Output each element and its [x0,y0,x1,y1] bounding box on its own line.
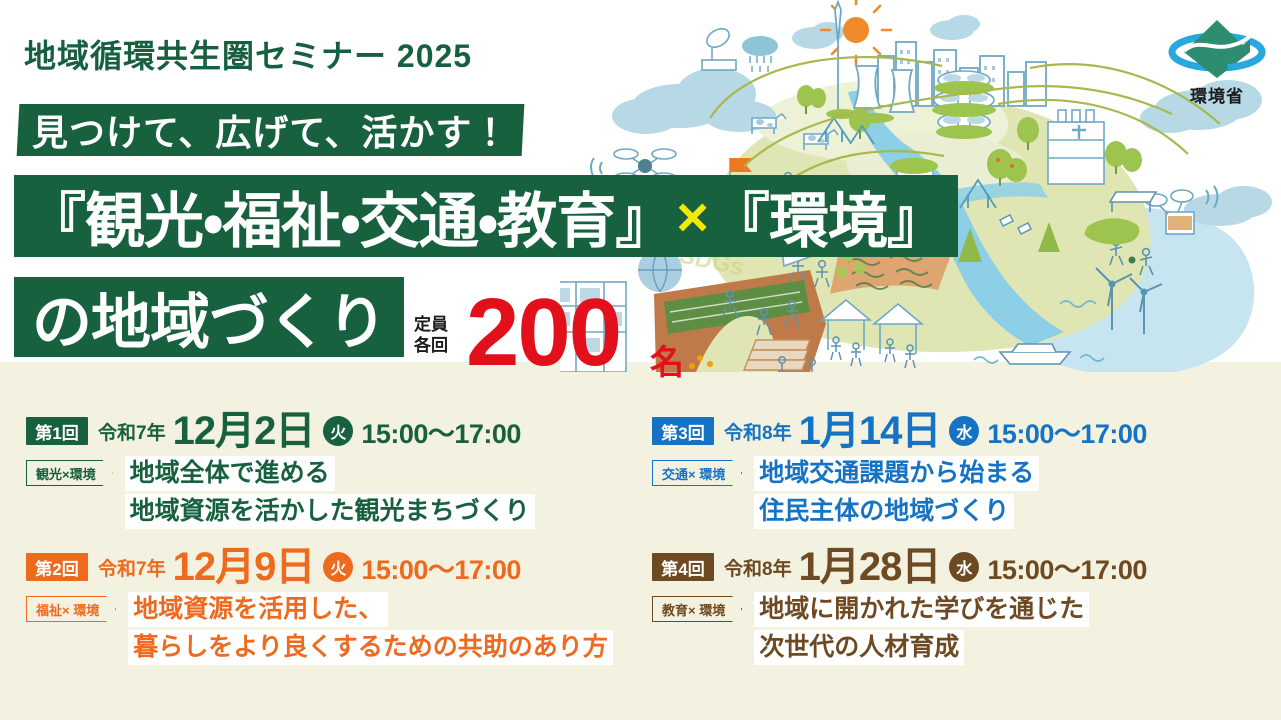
session-4-datetime-row: 第4回 令和8年 1月28日 水 15:00〜17:00 [652,546,1281,588]
session-4-topic-tag: 教育× 環境 [652,596,742,622]
session-1-number-badge: 第1回 [26,417,88,445]
session-1-datetime-row: 第1回 令和7年 12月2日 火 15:00〜17:00 [26,410,656,452]
session-item-3[interactable]: 第3回 令和8年 1月14日 水 15:00〜17:00 交通× 環境 地域交通… [652,410,1281,532]
session-2-era: 令和7年 [98,554,166,581]
session-2-date: 12月9日 [173,547,315,587]
session-item-1[interactable]: 第1回 令和7年 12月2日 火 15:00〜17:00 観光×環境 地域全体で… [26,410,656,532]
main-title-band-line2: の地域づくり [14,277,404,357]
handwritten-subtitle-band: 見つけて、広げて、活かす！ [17,104,525,156]
ministry-of-environment-logo: 環境省 [1168,16,1266,108]
session-4-date: 1月28日 [799,547,941,587]
session-1-era: 令和7年 [98,418,166,445]
session-3-era: 令和8年 [724,418,792,445]
main-title-band-line1: 『観光・福祉・交通・教育』 × 『環境』 [14,175,958,257]
session-3-date: 1月14日 [799,411,941,451]
session-2-subject-row: 福祉× 環境 地域資源を活用した、 暮らしをより良くするための共助のあり方 [26,592,656,668]
session-1-date: 12月2日 [173,411,315,451]
session-3-weekday-badge: 水 [949,416,979,446]
session-2-datetime-row: 第2回 令和7年 12月9日 火 15:00〜17:00 [26,546,656,588]
session-4-weekday-badge: 水 [949,552,979,582]
main-title-line2-text: の地域づくり [32,274,386,361]
session-1-time: 15:00〜17:00 [361,412,521,451]
capacity-block: 定員 各回 200 名 [414,305,674,367]
session-4-subject: 地域に開かれた学びを通じた 次世代の人材育成 [754,592,1089,668]
capacity-label-line2: 各回 [414,335,460,356]
session-1-subject-line1: 地域全体で進める [125,456,335,491]
session-item-4[interactable]: 第4回 令和8年 1月28日 水 15:00〜17:00 教育× 環境 地域に開… [652,546,1281,668]
session-1-subject-row: 観光×環境 地域全体で進める 地域資源を活かした観光まちづくり [26,456,656,532]
session-item-2[interactable]: 第2回 令和7年 12月9日 火 15:00〜17:00 福祉× 環境 地域資源… [26,546,656,668]
session-2-subject-line2: 暮らしをより良くするための共助のあり方 [128,630,613,665]
session-3-subject: 地域交通課題から始まる 住民主体の地域づくり [754,456,1039,532]
capacity-label-line1: 定員 [414,314,460,335]
session-column-right: 第3回 令和8年 1月14日 水 15:00〜17:00 交通× 環境 地域交通… [652,410,1281,674]
session-list: 第1回 令和7年 12月2日 火 15:00〜17:00 観光×環境 地域全体で… [0,410,1281,710]
session-1-subject-line2: 地域資源を活かした観光まちづくり [125,494,535,529]
session-1-subject: 地域全体で進める 地域資源を活かした観光まちづくり [125,456,535,532]
session-4-subject-row: 教育× 環境 地域に開かれた学びを通じた 次世代の人材育成 [652,592,1281,668]
capacity-unit: 名 [650,335,684,384]
session-2-subject: 地域資源を活用した、 暮らしをより良くするための共助のあり方 [128,592,613,668]
handwritten-subtitle-text: 見つけて、広げて、活かす！ [32,104,509,156]
session-1-topic-tag: 観光×環境 [26,460,113,486]
session-column-left: 第1回 令和7年 12月2日 火 15:00〜17:00 観光×環境 地域全体で… [26,410,656,674]
session-2-topic-tag: 福祉× 環境 [26,596,116,622]
seminar-kicker-title: 地域循環共生圏セミナー 2025 [24,31,472,77]
session-2-subject-line1: 地域資源を活用した、 [128,592,388,627]
cross-multiply-icon: × [674,184,710,249]
capacity-label: 定員 各回 [414,314,460,356]
session-3-datetime-row: 第3回 令和8年 1月14日 水 15:00〜17:00 [652,410,1281,452]
ministry-logo-label: 環境省 [1168,82,1266,107]
poster-canvas: SDGs 環境省 地域循環共生圏セミナー 202 [0,0,1281,720]
session-2-number-badge: 第2回 [26,553,88,581]
session-2-time: 15:00〜17:00 [361,548,521,587]
session-4-number-badge: 第4回 [652,553,714,581]
session-3-subject-row: 交通× 環境 地域交通課題から始まる 住民主体の地域づくり [652,456,1281,532]
session-3-subject-line2: 住民主体の地域づくり [754,494,1014,529]
session-4-era: 令和8年 [724,554,792,581]
main-title-part-b: 『環境』 [710,173,946,260]
session-3-number-badge: 第3回 [652,417,714,445]
main-title-part-a: 『観光・福祉・交通・教育』 [26,173,674,260]
session-2-weekday-badge: 火 [323,552,353,582]
session-3-subject-line1: 地域交通課題から始まる [754,456,1039,491]
session-4-subject-line2: 次世代の人材育成 [754,630,964,665]
session-4-time: 15:00〜17:00 [987,548,1147,587]
session-1-weekday-badge: 火 [323,416,353,446]
session-3-time: 15:00〜17:00 [987,412,1147,451]
session-3-topic-tag: 交通× 環境 [652,460,742,486]
capacity-number: 200 [466,285,620,381]
session-4-subject-line1: 地域に開かれた学びを通じた [754,592,1089,627]
